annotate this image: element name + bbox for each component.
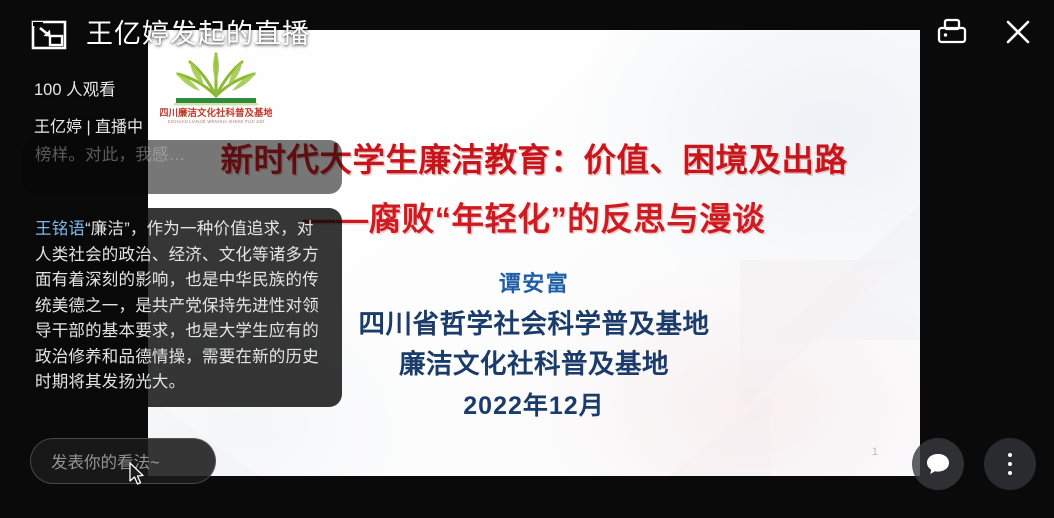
chat-message: 榜样。对此，我感…	[22, 140, 342, 194]
topbar-actions	[932, 12, 1038, 52]
chat-message-text: 榜样。对此，我感…	[35, 146, 185, 164]
chat-message-username: 王铭语	[35, 220, 85, 238]
cast-screen-icon[interactable]	[932, 12, 972, 52]
floating-actions	[912, 438, 1036, 490]
viewer-count: 100 人观看	[34, 76, 116, 100]
more-options-icon[interactable]	[984, 438, 1036, 490]
close-icon[interactable]	[998, 12, 1038, 52]
host-status: 王亿婷 | 直播中	[34, 113, 143, 137]
chat-message: 王铭语“廉洁”，作为一种价值追求，对人类社会的政治、经济、文化等诸多方面有着深刻…	[22, 208, 342, 407]
picture-in-picture-icon[interactable]	[28, 15, 70, 55]
chat-message-list[interactable]: 榜样。对此，我感… 王铭语“廉洁”，作为一种价值追求，对人类社会的政治、经济、文…	[0, 140, 360, 450]
slide-page-number: 1	[872, 446, 878, 458]
comment-input-placeholder: 发表你的看法~	[51, 449, 160, 473]
chat-message-text: “廉洁”，作为一种价值追求，对人类社会的政治、经济、文化等诸多方面有着深刻的影响…	[35, 220, 319, 391]
live-stream-viewer: 王亿婷发起的直播	[0, 0, 1054, 518]
chat-bubble-icon[interactable]	[912, 438, 964, 490]
more-dots	[1008, 453, 1013, 476]
comment-input[interactable]: 发表你的看法~	[30, 438, 216, 484]
